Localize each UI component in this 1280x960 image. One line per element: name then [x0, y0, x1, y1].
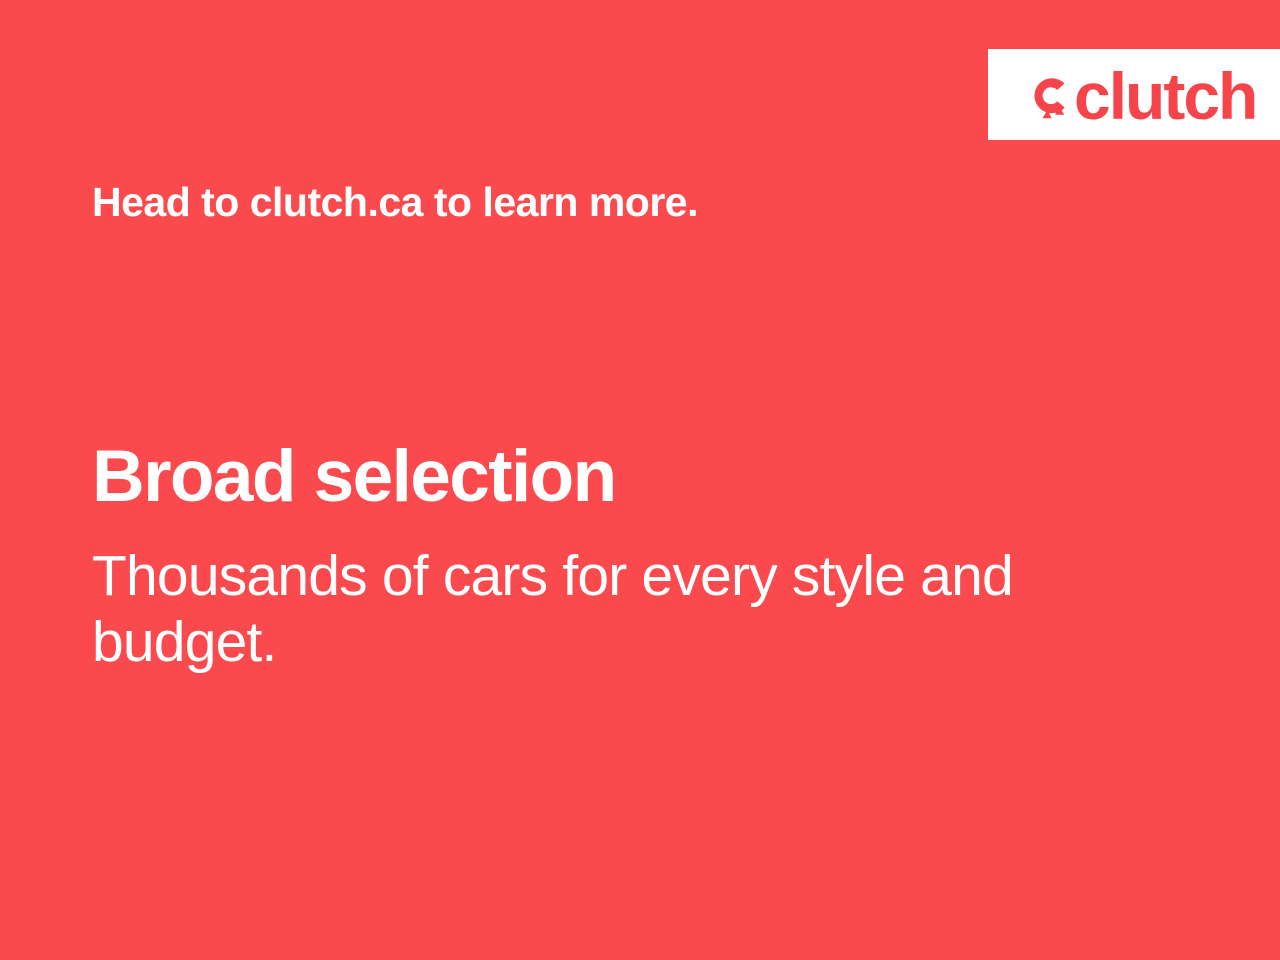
clutch-c-mark-icon	[1028, 72, 1074, 122]
eyebrow-text: Head to clutch.ca to learn more.	[92, 178, 698, 227]
clutch-wordmark: clutch	[1074, 63, 1256, 129]
clutch-logo-lockup: clutch	[988, 49, 1280, 140]
page-title: Broad selection	[92, 437, 616, 517]
subheading-text: Thousands of cars for every style and bu…	[92, 543, 1052, 675]
promo-slide: clutch Head to clutch.ca to learn more. …	[0, 0, 1280, 960]
